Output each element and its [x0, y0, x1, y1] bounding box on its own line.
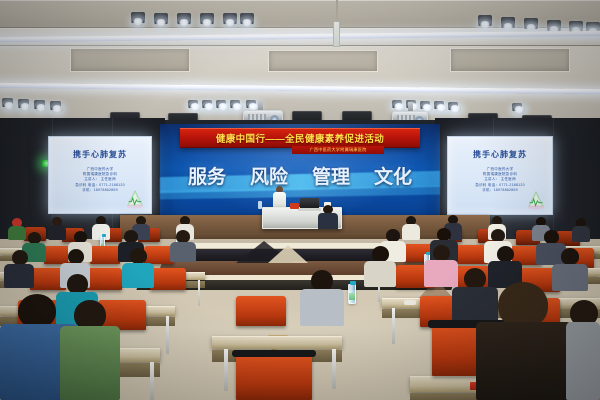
person-head [130, 248, 147, 264]
ceiling-spotlight [18, 99, 29, 108]
audience-member-foreground [566, 300, 600, 400]
slide-title: 携手心肺复苏 [448, 149, 552, 160]
seated-person-torso [318, 213, 338, 229]
ceiling-spotlight [202, 100, 212, 108]
left-projection-screen: 携手心肺复苏 广西中医药大学 附属瑞康医院急诊科 主讲人： 主任医师 急诊科 电… [48, 136, 152, 214]
backdrop-word-1: 服务 [188, 162, 226, 189]
ceiling-spotlight [50, 101, 61, 110]
person-torso [4, 264, 34, 288]
person-torso [170, 242, 196, 262]
ceiling-spotlight [216, 100, 226, 108]
ceiling-spotlight [131, 12, 145, 23]
banner-subtitle-strip: 广西中医药大学附属瑞康医院 [292, 146, 384, 154]
ceiling-spotlight [512, 103, 522, 111]
desk-leg [150, 362, 154, 400]
person-head [311, 270, 333, 291]
ceiling-spotlight [501, 17, 515, 28]
table-item-red [290, 203, 299, 209]
ceiling-spotlight [392, 100, 402, 108]
person-head [18, 294, 56, 328]
seated-person-on-stage [318, 205, 338, 229]
event-red-banner: 健康中国行——全民健康素养促进活动 [180, 128, 420, 148]
audience-member [122, 248, 154, 288]
desk-leg [224, 349, 228, 391]
backdrop-title-row: 服务 风险 管理 文化 [182, 160, 418, 190]
ceiling-hanger-cable [336, 0, 338, 22]
ceiling-spotlight [448, 102, 458, 110]
person-torso [364, 261, 396, 287]
person-head [433, 245, 450, 261]
ceiling-spotlight [2, 98, 13, 107]
backdrop-word-4: 文化 [374, 162, 412, 189]
ceiling-spotlight [34, 100, 45, 109]
person-head [12, 250, 28, 265]
audience-member [300, 270, 344, 326]
person-torso [572, 226, 590, 242]
ceiling-spotlight [200, 13, 214, 24]
person-head [372, 246, 389, 262]
person-torso [476, 322, 572, 400]
ceiling-spotlight [230, 100, 240, 108]
person-head [497, 246, 514, 262]
audience-member-foreground [60, 300, 120, 400]
desk-leg [198, 280, 200, 306]
audience-member [48, 217, 66, 240]
audience-member-foreground [476, 282, 572, 400]
person-head [67, 274, 88, 294]
right-projection-screen: 携手心肺复苏 广西中医药大学 附属瑞康医院急诊科 主讲人： 主任医师 急诊科 电… [447, 136, 553, 215]
ceiling-spotlight [246, 100, 256, 108]
bottle-cap [102, 234, 106, 237]
chair [90, 246, 120, 264]
bottle-label [349, 293, 355, 300]
ceiling-spotlight [240, 13, 254, 24]
audience-member [170, 230, 196, 262]
ceiling-spotlight [547, 20, 561, 31]
banner-main-text: 健康中国行——全民健康素养促进活动 [216, 131, 384, 145]
desk-leg [332, 349, 336, 389]
person-torso [60, 326, 120, 400]
laptop-on-table [300, 198, 319, 209]
lecture-hall-photo: 健康中国行——全民健康素养促进活动 广西中医药大学附属瑞康医院 服务 风险 管理… [0, 0, 600, 400]
chair-frame [232, 350, 316, 357]
ceiling-spotlight [177, 13, 191, 24]
ceiling-hanging-tag [333, 21, 340, 47]
audience-member [572, 218, 590, 242]
person-head [544, 230, 559, 244]
ceiling-coffer [70, 48, 190, 72]
ceiling-coffer [268, 50, 378, 72]
ceiling-spotlight [434, 101, 444, 109]
floor-triangle-cream [268, 245, 308, 263]
ceiling-spotlight [478, 15, 492, 26]
water-bottle [348, 284, 356, 304]
person-torso [300, 289, 344, 326]
person-head [68, 249, 84, 264]
ceiling-light-strip [0, 83, 600, 95]
ceiling-spotlight [154, 13, 168, 24]
chair [150, 268, 186, 290]
chair [236, 296, 286, 326]
ceiling-spotlight [524, 18, 538, 29]
bottle-cap [350, 281, 356, 285]
water-cup-on-stage [258, 201, 262, 209]
person-head [561, 248, 579, 265]
ceiling-coffer [450, 48, 570, 72]
banner-sub-text: 广西中医药大学附属瑞康医院 [309, 147, 366, 153]
backdrop-word-3: 管理 [312, 162, 350, 189]
backdrop-word-2: 风险 [250, 162, 288, 189]
heartbeat-mountain-logo-icon [525, 190, 547, 210]
desk [212, 336, 342, 349]
person-torso [122, 263, 154, 288]
presenter-torso [273, 192, 286, 208]
phone-on-desk [404, 300, 416, 305]
heartbeat-mountain-logo-icon [124, 189, 146, 209]
audience-member [364, 246, 396, 287]
ceiling-spotlight [420, 101, 430, 109]
person-torso [48, 225, 66, 240]
ceiling-spotlight [188, 100, 198, 108]
ceiling-spotlight [223, 13, 237, 24]
person-torso [566, 322, 600, 400]
slide-title: 携手心肺复苏 [49, 149, 151, 160]
audience-member [4, 250, 34, 288]
chair [236, 354, 312, 400]
ceiling [0, 0, 600, 132]
desk-leg [392, 308, 395, 344]
desk-leg [166, 316, 169, 354]
